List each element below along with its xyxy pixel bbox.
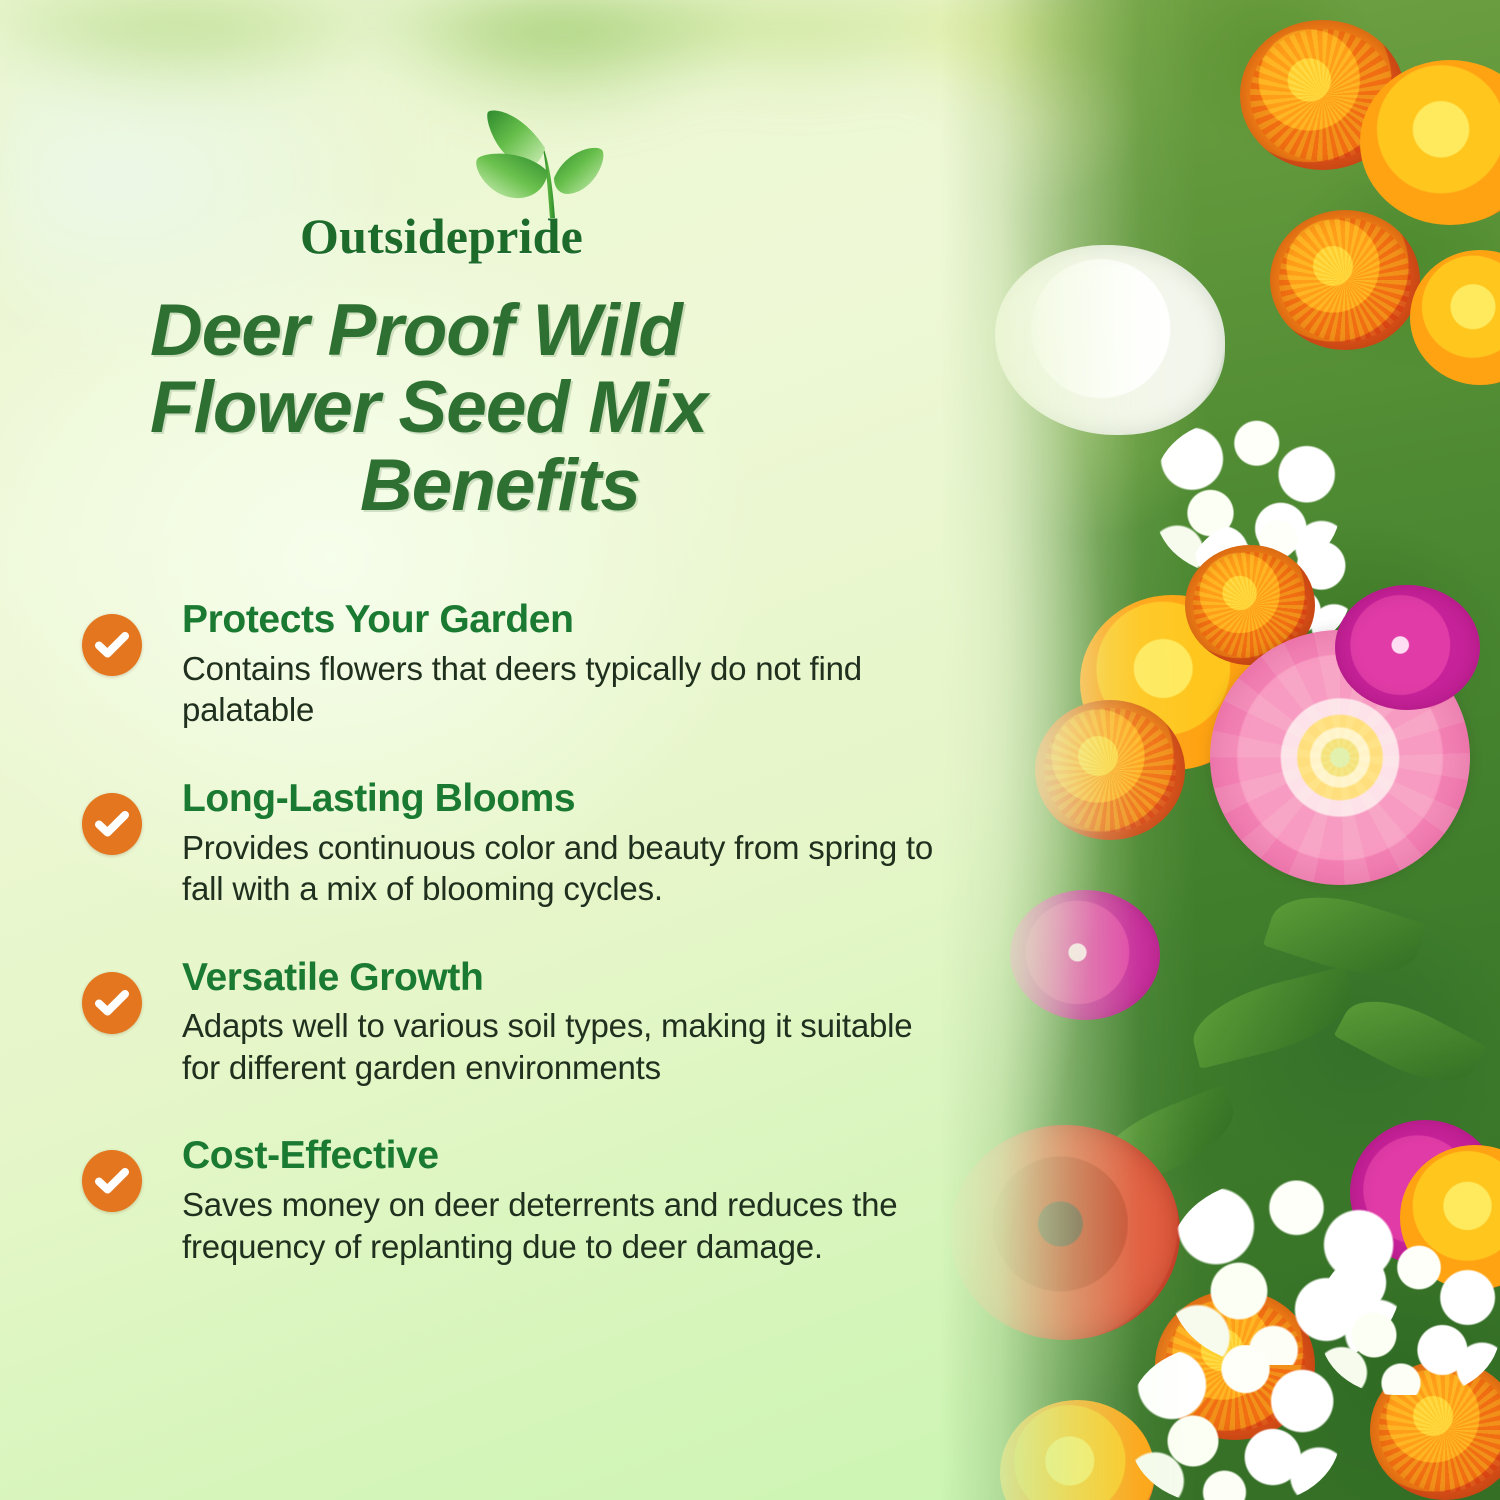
benefit-item: Long-Lasting Blooms Provides continuous … xyxy=(82,777,942,910)
benefit-heading: Versatile Growth xyxy=(182,956,942,1000)
title-line-1: Deer Proof Wild xyxy=(150,292,850,369)
title-line-2: Flower Seed Mix xyxy=(150,369,850,446)
check-circle-icon xyxy=(82,614,142,676)
photo-edge-fade xyxy=(940,0,1500,1500)
benefit-item: Versatile Growth Adapts well to various … xyxy=(82,956,942,1089)
benefit-description: Saves money on deer deterrents and reduc… xyxy=(182,1184,942,1267)
benefits-list: Protects Your Garden Contains flowers th… xyxy=(82,598,942,1313)
benefit-heading: Long-Lasting Blooms xyxy=(182,777,942,821)
benefit-heading: Protects Your Garden xyxy=(182,598,942,642)
brand-logo[interactable]: Outsidepride xyxy=(300,100,610,265)
benefit-item: Protects Your Garden Contains flowers th… xyxy=(82,598,942,731)
benefit-heading: Cost-Effective xyxy=(182,1134,942,1178)
benefit-description: Adapts well to various soil types, makin… xyxy=(182,1005,942,1088)
check-circle-icon xyxy=(82,972,142,1034)
benefit-description: Provides continuous color and beauty fro… xyxy=(182,827,942,910)
benefit-item: Cost-Effective Saves money on deer deter… xyxy=(82,1134,942,1267)
benefit-description: Contains flowers that deers typically do… xyxy=(182,648,942,731)
check-circle-icon xyxy=(82,1150,142,1212)
wildflower-garden-photo xyxy=(940,0,1500,1500)
title-line-3: Benefits xyxy=(150,447,850,524)
brand-name: Outsidepride xyxy=(300,207,583,265)
poster: Outsidepride Deer Proof Wild Flower Seed… xyxy=(0,0,1500,1500)
page-title: Deer Proof Wild Flower Seed Mix Benefits xyxy=(150,292,850,524)
check-circle-icon xyxy=(82,793,142,855)
